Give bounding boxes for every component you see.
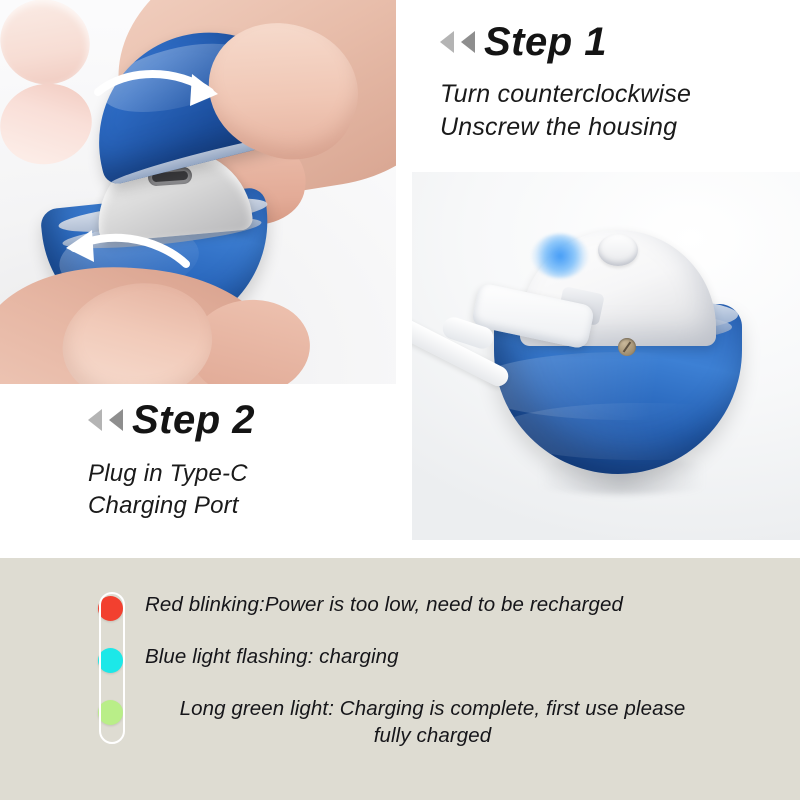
triangle-left-icon bbox=[461, 31, 475, 53]
usb-c-charging-blue-ball-photo bbox=[412, 172, 800, 540]
red-indicator-dot bbox=[98, 596, 123, 621]
triangle-left-icon bbox=[88, 409, 102, 431]
hand-unscrewing-blue-ball-photo bbox=[0, 0, 396, 384]
step-1-block: Step 1 Turn counterclockwise Unscrew the… bbox=[440, 22, 790, 145]
legend-row-label: Blue light flashing: charging bbox=[145, 644, 399, 671]
step-1-title: Step 1 bbox=[484, 22, 607, 62]
infographic-page: Step 1 Turn counterclockwise Unscrew the… bbox=[0, 0, 800, 800]
step-1-heading: Step 1 bbox=[440, 22, 790, 62]
step-2-description: Plug in Type-C Charging Port bbox=[88, 458, 408, 522]
legend-row-label: Long green light: Charging is complete, … bbox=[145, 696, 720, 749]
legend-rows: Red blinking:Power is too low, need to b… bbox=[98, 592, 738, 765]
power-button bbox=[598, 234, 638, 266]
blue-indicator-dot bbox=[98, 648, 123, 673]
curved-arrow-left-icon bbox=[52, 222, 192, 282]
step-2-heading: Step 2 bbox=[88, 400, 408, 440]
green-indicator-dot bbox=[98, 700, 123, 725]
step-2-title: Step 2 bbox=[132, 400, 255, 440]
triangle-left-icon bbox=[440, 31, 454, 53]
step-1-description: Turn counterclockwise Unscrew the housin… bbox=[440, 78, 790, 145]
screw-icon bbox=[618, 338, 636, 356]
step-2-block: Step 2 Plug in Type-C Charging Port bbox=[88, 400, 408, 522]
curved-arrow-right-icon bbox=[92, 62, 232, 122]
legend-row: Long green light: Charging is complete, … bbox=[98, 696, 738, 749]
blue-led-glow bbox=[532, 234, 588, 278]
legend-row: Red blinking:Power is too low, need to b… bbox=[98, 592, 738, 621]
led-status-legend-panel: Red blinking:Power is too low, need to b… bbox=[0, 558, 800, 800]
legend-row: Blue light flashing: charging bbox=[98, 644, 738, 673]
triangle-left-icon bbox=[109, 409, 123, 431]
legend-row-label: Red blinking:Power is too low, need to b… bbox=[145, 592, 623, 619]
